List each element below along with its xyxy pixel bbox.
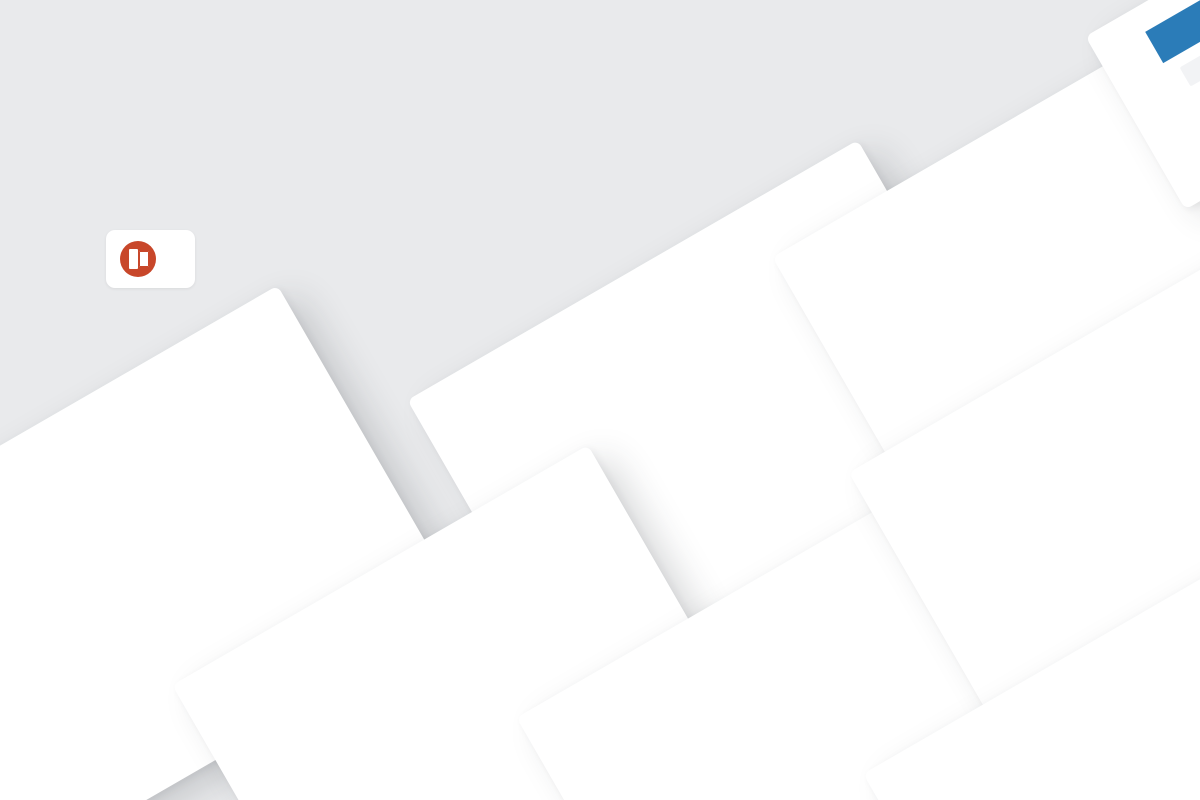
powerpoint-template-badge xyxy=(106,230,195,288)
edge-banner xyxy=(1145,0,1200,63)
powerpoint-icon xyxy=(120,241,156,277)
month-header-row xyxy=(0,285,277,565)
month-side-blocks xyxy=(0,285,277,565)
arrows-heading xyxy=(825,275,826,277)
columns-heading xyxy=(909,498,910,500)
month-rows xyxy=(0,285,277,565)
steps-heading xyxy=(580,752,581,754)
promo-canvas xyxy=(0,0,1200,800)
